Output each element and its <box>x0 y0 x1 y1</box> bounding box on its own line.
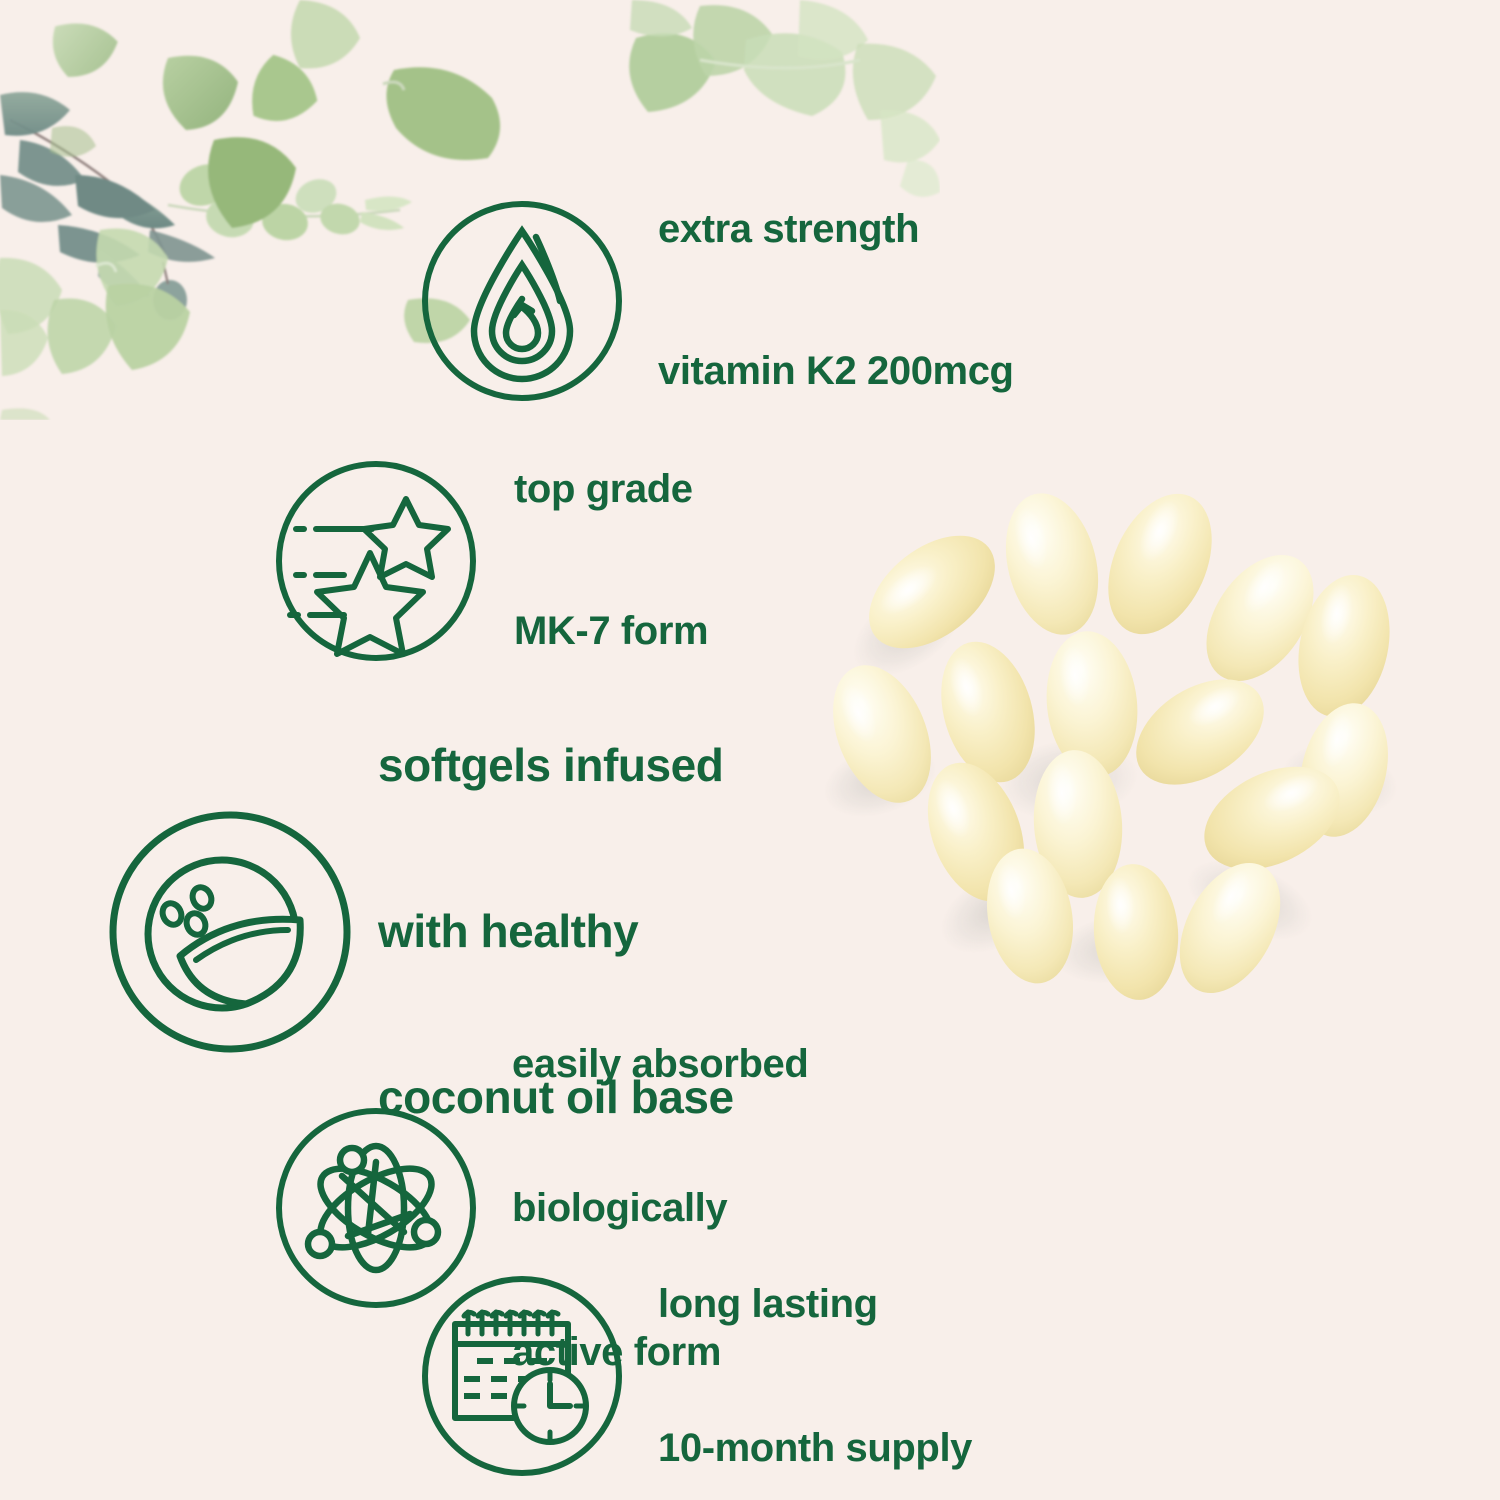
feature-label: long lasting 10-month supply <box>658 1184 972 1500</box>
feature-line: 10-month supply <box>658 1424 972 1472</box>
feature-line: top grade <box>514 466 708 513</box>
capsule-group <box>820 480 1400 1010</box>
feature-line: softgels infused <box>378 738 734 793</box>
eucalyptus-branch-sage <box>0 92 215 320</box>
calendar-clock-icon <box>418 1272 626 1480</box>
capsules-illustration <box>820 480 1400 1020</box>
feature-line: extra strength <box>658 206 1014 253</box>
feature-row-supply: long lasting 10-month supply <box>418 1184 972 1500</box>
feature-label: extra strength vitamin K2 200mcg <box>658 112 1014 490</box>
feature-line: easily absorbed <box>512 1040 808 1088</box>
eucalyptus-sprig-light <box>168 157 412 243</box>
product-infographic: extra strength vitamin K2 200mcg <box>0 0 1500 1500</box>
feature-line: long lasting <box>658 1280 972 1328</box>
softgel-capsules-pile <box>820 480 1400 1020</box>
feature-line: vitamin K2 200mcg <box>658 348 1014 395</box>
